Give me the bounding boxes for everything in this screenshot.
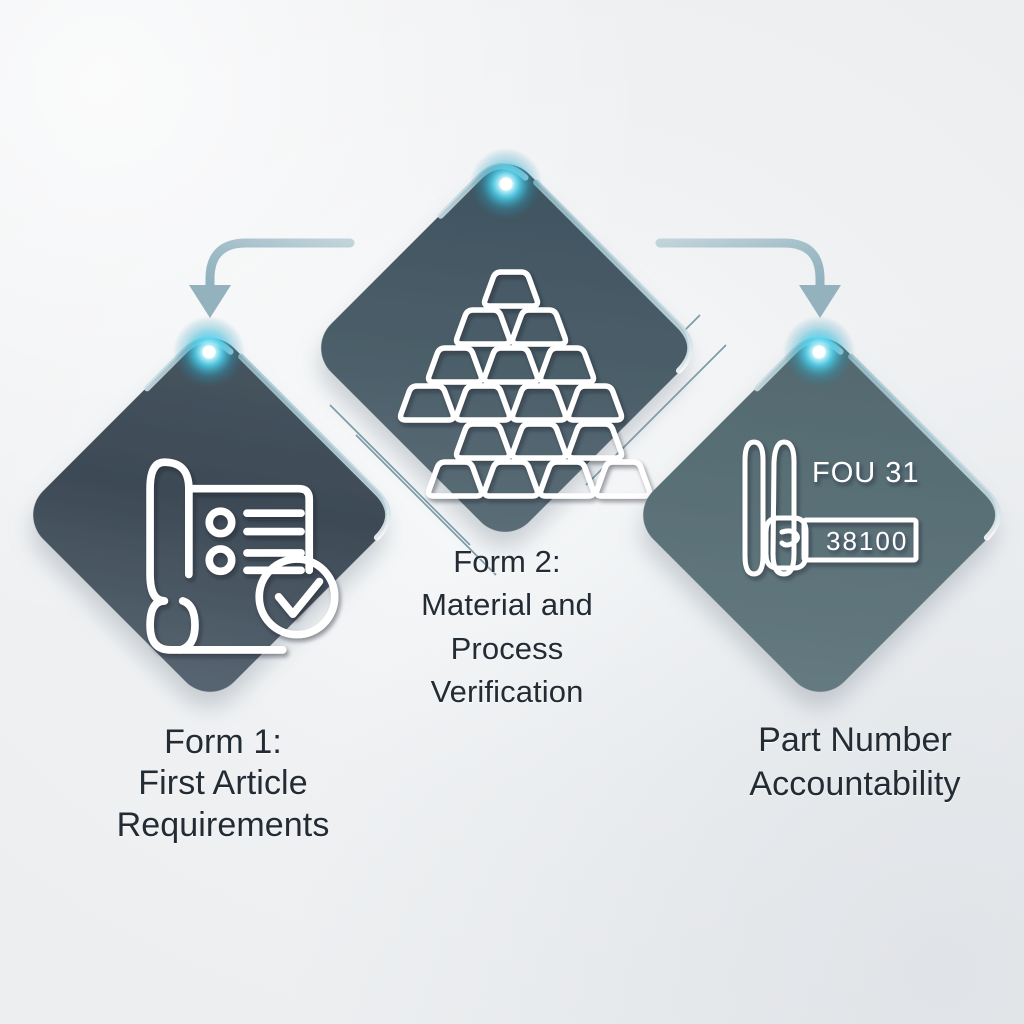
diagram-canvas: FOU 31 38100 Form 1: First Article Requi… [0,0,1024,1024]
tag-text-box: 38100 [826,526,908,556]
node-label-form2: Form 2: Material and Process Verificatio… [378,540,636,714]
node-layer: FOU 31 38100 [0,0,1024,1024]
tag-text-top: FOU 31 [812,457,920,489]
node-label-form1: Form 1: First Article Requirements [58,722,388,846]
node-form3[interactable]: FOU 31 38100 [629,316,1011,706]
node-label-form3: Part Number Accountability [700,718,1010,806]
